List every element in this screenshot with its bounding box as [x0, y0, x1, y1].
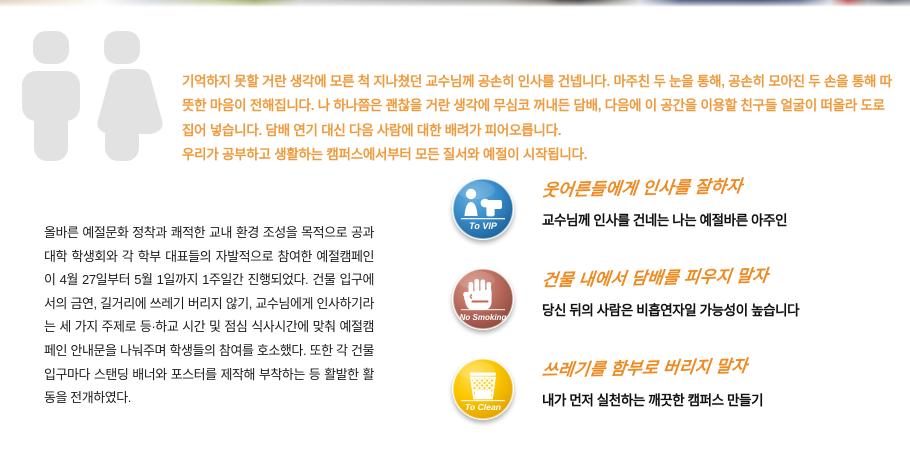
trash-bin-icon: To Clean	[452, 358, 514, 420]
slogan-text-group: 쓰레기를 함부로 버리지 말자 내가 먼저 실천하는 깨끗한 캠퍼스 만들기	[542, 356, 902, 412]
decorative-photo-strip	[0, 0, 910, 7]
badge-label-text: To VIP	[469, 221, 498, 231]
bowing-greeting-icon: To VIP	[452, 178, 514, 240]
badge-label-text: To Clean	[465, 402, 501, 412]
slogan-text-group: 웃어른들에게 인사를 잘하자 교수님께 인사를 건네는 나는 예절바른 아주인	[542, 176, 902, 232]
slogan-title: 건물 내에서 담배를 피우지 말자	[541, 263, 770, 294]
slogan-title: 웃어른들에게 인사를 잘하자	[541, 174, 744, 204]
slogan-item-no-smoking: No Smoking 건물 내에서 담배를 피우지 말자 당신 뒤의 사람은 비…	[452, 266, 902, 356]
badge-label-text: No Smoking	[460, 313, 507, 322]
intro-paragraph: 기억하지 못할 거란 생각에 모른 척 지나쳤던 교수님께 공손히 인사를 건넵…	[182, 70, 900, 168]
slogan-list: To VIP 웃어른들에게 인사를 잘하자 교수님께 인사를 건네는 나는 예절…	[452, 176, 902, 446]
slogan-subtitle: 교수님께 인사를 건네는 나는 예절바른 아주인	[542, 210, 902, 232]
article-body-text: 올바른 예절문화 정착과 쾌적한 교내 환경 조성을 목적으로 공과대학 학생회…	[44, 221, 374, 410]
two-people-silhouette-icon	[22, 28, 172, 188]
no-smoking-hand-icon: No Smoking	[452, 268, 514, 330]
slogan-title: 쓰레기를 함부로 버리지 말자	[541, 354, 749, 384]
slogan-item-greeting: To VIP 웃어른들에게 인사를 잘하자 교수님께 인사를 건네는 나는 예절…	[452, 176, 902, 266]
slogan-subtitle: 당신 뒤의 사람은 비흡연자일 가능성이 높습니다	[542, 300, 902, 322]
slogan-text-group: 건물 내에서 담배를 피우지 말자 당신 뒤의 사람은 비흡연자일 가능성이 높…	[542, 266, 902, 322]
photo-strip-fade	[0, 0, 910, 7]
slogan-item-clean: To Clean 쓰레기를 함부로 버리지 말자 내가 먼저 실천하는 깨끗한 …	[452, 356, 902, 446]
slogan-subtitle: 내가 먼저 실천하는 깨끗한 캠퍼스 만들기	[542, 390, 902, 412]
